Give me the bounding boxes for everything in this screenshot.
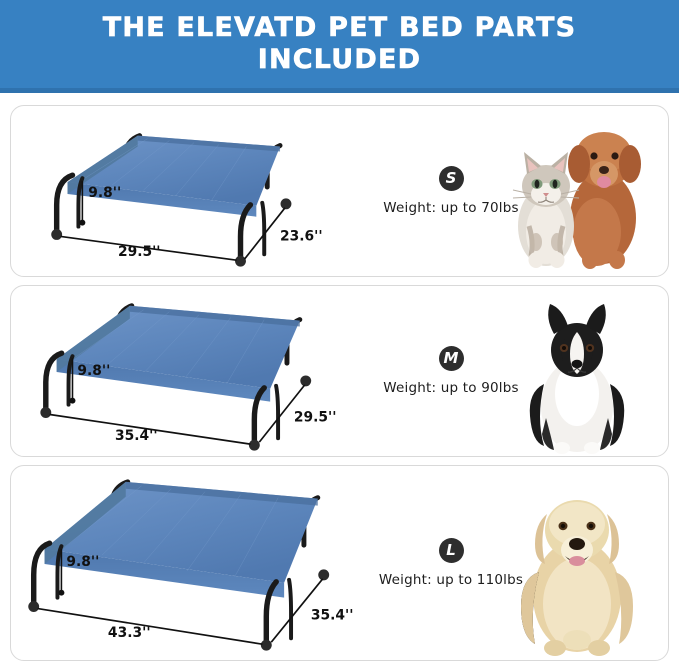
dimension-width-label-small: 23.6'' (280, 228, 323, 244)
product-size-card-small: 9.8'' 29.5'' 23.6'' S Weight: up to 70lb… (10, 105, 669, 277)
golden-retriever-figure (521, 500, 633, 656)
dimension-length-label-large: 43.3'' (108, 625, 151, 641)
bed-diagram-svg: 9.8'' 29.5'' 23.6'' (19, 106, 379, 276)
dimension-height-label-large: 9.8'' (66, 554, 99, 570)
golden-retriever-illustration (493, 468, 661, 660)
bed-diagram-svg: 9.8'' 35.4'' 29.5'' (19, 286, 379, 456)
border-collie-figure (529, 304, 623, 454)
bed-illustration-medium: 9.8'' 35.4'' 29.5'' (19, 286, 379, 456)
cat-and-poodle-illustration (491, 108, 663, 276)
poodle-figure (568, 132, 641, 269)
page-title-line1: THE ELEVATD PET BED PARTS (103, 12, 577, 43)
banner-bottom-strip (0, 88, 679, 93)
dimension-height-label-medium: 9.8'' (77, 363, 110, 379)
size-badge-small: S (439, 166, 464, 191)
bed-diagram-svg: 9.8'' 43.3'' 35.4'' (19, 466, 379, 660)
pet-photo-medium (489, 286, 664, 456)
dimension-height-label-small: 9.8'' (88, 185, 121, 201)
dimension-length-label-medium: 35.4'' (115, 428, 158, 444)
size-badge-large: L (439, 538, 464, 563)
pet-photo-small (489, 106, 664, 276)
bed-illustration-large: 9.8'' 43.3'' 35.4'' (19, 466, 379, 660)
dimension-width-label-medium: 29.5'' (294, 409, 337, 425)
dimension-width-label-large: 35.4'' (311, 607, 354, 623)
dimension-length-label-small: 29.5'' (118, 244, 161, 260)
page-title: THE ELEVATD PET BED PARTS INCLUDED (77, 12, 603, 76)
product-size-card-medium: 9.8'' 35.4'' 29.5'' M Weight: up to 90lb… (10, 285, 669, 457)
pet-photo-large (489, 466, 664, 660)
page-title-line2: INCLUDED (258, 44, 422, 75)
bed-illustration-small: 9.8'' 29.5'' 23.6'' (19, 106, 379, 276)
header-banner: THE ELEVATD PET BED PARTS INCLUDED (0, 0, 679, 88)
border-collie-illustration (502, 288, 652, 456)
size-badge-medium: M (439, 346, 464, 371)
product-size-card-large: 9.8'' 43.3'' 35.4'' L Weight: up to 110l… (10, 465, 669, 661)
